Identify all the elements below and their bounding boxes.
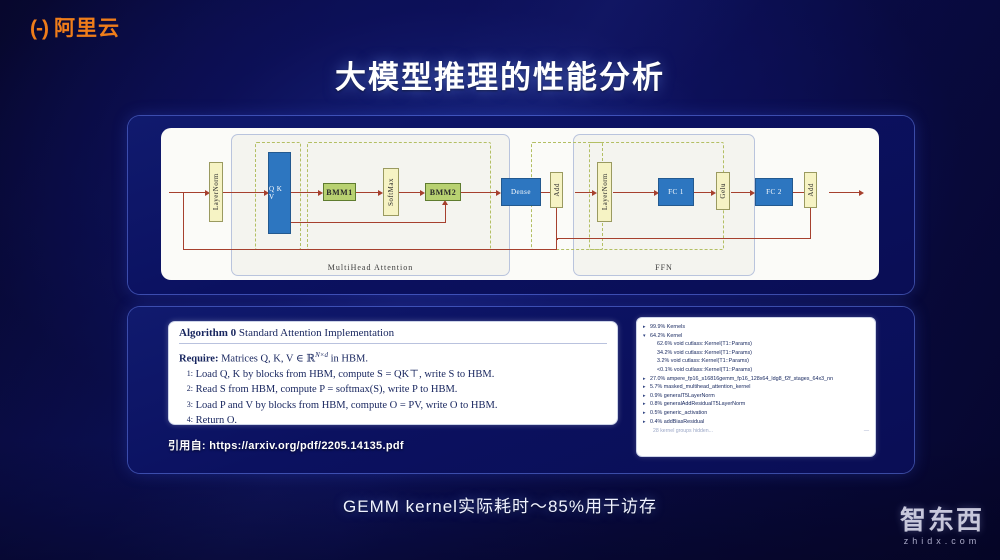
algorithm-step-text: Return O. [196,415,237,426]
algorithm-step-number: 4: [179,413,193,427]
profiler-row-label: 0.4% addBiasResidual [650,418,704,427]
algorithm-require-line: Require: Matrices Q, K, V ∈ ℝN×d in HBM. [179,348,607,367]
profiler-row[interactable]: ▸0.5% generic_activation [643,409,869,418]
algorithm-step-text: Load Q, K by blocks from HBM, compute S … [196,369,495,380]
node-label-dense: Dense [511,188,531,196]
wire-residual-in-vertical [183,192,184,250]
profiler-collapse-icon[interactable]: — [864,428,869,434]
node-bmm1: BMM1 [323,183,356,201]
wire-v-branch-horizontal [279,222,446,223]
node-label-gelu: Gelu [719,183,727,199]
profiler-row-label: 27.0% ampere_fp16_s16816gemm_fp16_128x64… [650,375,833,384]
algorithm-title: Algorithm 0 Standard Attention Implement… [179,327,607,344]
profiler-row-label: <0.1% void cutlass::Kernel(T1::Params) [657,366,752,375]
algorithm-step-number: 1: [179,367,193,381]
wire-ln2-to-fc1 [613,192,657,193]
expand-caret-icon[interactable]: ▸ [643,375,650,384]
node-softmax: SoftMax [383,168,399,216]
profiler-row-label: 0.9% generalT5LayerNorm [650,392,715,401]
algorithm-require-tail: in HBM. [328,354,368,365]
slide-caption: GEMM kernel实际耗时～85%用于访存 [0,492,1000,517]
diagram-card: MultiHead Attention FFN [128,116,914,294]
profiler-row-label: 0.5% generic_activation [650,409,707,418]
wire-residual-in-horizontal [183,249,557,250]
profiler-row[interactable]: 3.2% void cutlass::Kernel(T1::Params) [643,357,869,366]
node-label-qkv: Q K V [269,185,290,201]
wire-ln1-to-qkv [223,192,267,193]
expand-caret-icon[interactable]: ▸ [643,409,650,418]
node-fc2: FC 2 [755,178,793,206]
algorithm-step: 1: Load Q, K by blocks from HBM, compute… [179,367,607,382]
algorithm-box: Algorithm 0 Standard Attention Implement… [168,321,618,425]
alibaba-cloud-name: 阿里云 [54,18,120,39]
wire-output [829,192,861,193]
node-add-1: Add [550,172,563,208]
profiler-row[interactable]: 62.6% void cutlass::Kernel(T1::Params) [643,340,869,349]
wire-input [169,192,207,193]
group-label-multihead-attention: MultiHead Attention [232,263,509,272]
wire-residual-to-add1 [556,206,557,250]
node-add-2: Add [804,172,817,208]
algorithm-step: 4: Return O. [179,413,607,428]
profiler-row-label: 64.2% Kernel [650,332,682,341]
wire-qkv-to-bmm1 [291,192,321,193]
profiler-row[interactable]: ▸0.4% addBiasResidual [643,418,869,427]
node-label-fc1: FC 1 [668,188,684,196]
expand-caret-icon[interactable]: ▸ [643,383,650,392]
expand-caret-icon[interactable]: ▸ [643,392,650,401]
profiler-row[interactable]: ▸0.8% generalAddResidualT5LayerNorm [643,400,869,409]
algorithm-step: 3: Load P and V by blocks from HBM, comp… [179,398,607,413]
profiler-row[interactable]: <0.1% void cutlass::Kernel(T1::Params) [643,366,869,375]
wire-bmm2-to-dense [461,192,499,193]
node-label-bmm1: BMM1 [326,188,352,197]
node-dense: Dense [501,178,541,206]
expand-caret-icon[interactable]: ▸ [643,400,650,409]
node-layernorm-1: LayerNorm [209,162,223,222]
algorithm-step: 2: Read S from HBM, compute P = softmax(… [179,382,607,397]
profiler-row-label: 99.9% Kernels [650,323,685,332]
wire-v-branch-to-bmm2 [445,204,446,223]
profiler-row-label: 3.2% void cutlass::Kernel(T1::Params) [657,357,749,366]
algorithm-require-label: Require: [179,354,218,365]
node-label-layernorm-2: LayerNorm [601,173,609,210]
watermark-name: 智东西 [900,507,984,533]
profiler-row[interactable]: ▸5.7% masked_multihead_attention_kernel [643,383,869,392]
profiler-row[interactable]: ▾64.2% Kernel [643,332,869,341]
group-label-ffn: FFN [574,263,754,272]
arrow-output-end [859,190,864,196]
node-layernorm-2: LayerNorm [597,162,612,222]
node-label-layernorm-1: LayerNorm [212,173,220,210]
profiler-row[interactable]: ▸99.9% Kernels [643,323,869,332]
wire-residual-ffn-horizontal [557,238,811,239]
transformer-block-diagram: MultiHead Attention FFN [161,128,879,280]
algorithm-require-superscript: N×d [315,351,328,359]
node-qkv: Q K V [268,152,291,234]
algorithm-step-number: 2: [179,382,193,396]
collapse-caret-icon[interactable]: ▾ [643,332,650,341]
algorithm-title-rest: Standard Attention Implementation [239,327,394,339]
algorithm-card: Algorithm 0 Standard Attention Implement… [128,307,914,473]
node-gelu: Gelu [716,172,730,210]
citation-label: 引用自: [168,440,206,452]
profiler-row-label: 0.8% generalAddResidualT5LayerNorm [650,400,745,409]
algorithm-title-bold: Algorithm 0 [179,327,236,339]
node-label-softmax: SoftMax [387,178,395,206]
algorithm-step-text: Read S from HBM, compute P = softmax(S),… [196,384,458,395]
profiler-hidden-groups-label[interactable]: 28 kernel groups hidden... [653,428,713,434]
slide: (-) 阿里云 大模型推理的性能分析 MultiHead Attention F… [0,0,1000,560]
watermark: 智东西 zhidx.com [900,507,984,546]
node-label-bmm2: BMM2 [430,188,456,197]
profiler-row-label: 34.2% void cutlass::Kernel(T1::Params) [657,349,752,358]
node-label-add-2: Add [807,183,815,197]
wire-residual-to-add2 [810,206,811,239]
profiler-row[interactable]: ▸27.0% ampere_fp16_s16816gemm_fp16_128x6… [643,375,869,384]
node-label-fc2: FC 2 [766,188,782,196]
alibaba-cloud-logo: (-) 阿里云 [30,18,120,39]
alibaba-cloud-mark-icon: (-) [30,18,48,39]
node-label-add-1: Add [553,183,561,197]
node-bmm2: BMM2 [425,183,461,201]
citation: 引用自: https://arxiv.org/pdf/2205.14135.pd… [168,437,404,453]
watermark-domain: zhidx.com [900,536,984,546]
algorithm-require-text: Matrices Q, K, V ∈ ℝ [221,354,315,365]
profiler-row[interactable]: ▸0.9% generalT5LayerNorm [643,392,869,401]
profiler-row-label: 5.7% masked_multihead_attention_kernel [650,383,750,392]
page-title: 大模型推理的性能分析 [0,52,1000,97]
algorithm-step-number: 3: [179,398,193,412]
expand-caret-icon[interactable]: ▸ [643,418,650,427]
profiler-row[interactable]: 34.2% void cutlass::Kernel(T1::Params) [643,349,869,358]
citation-url[interactable]: https://arxiv.org/pdf/2205.14135.pdf [209,440,404,452]
expand-caret-icon[interactable]: ▸ [643,323,650,332]
profiler-footer[interactable]: 28 kernel groups hidden... — [643,428,869,434]
profiler-panel[interactable]: ▸99.9% Kernels ▾64.2% Kernel 62.6% void … [636,317,876,457]
profiler-row-label: 62.6% void cutlass::Kernel(T1::Params) [657,340,752,349]
algorithm-step-text: Load P and V by blocks from HBM, compute… [196,400,498,411]
node-fc1: FC 1 [658,178,694,206]
